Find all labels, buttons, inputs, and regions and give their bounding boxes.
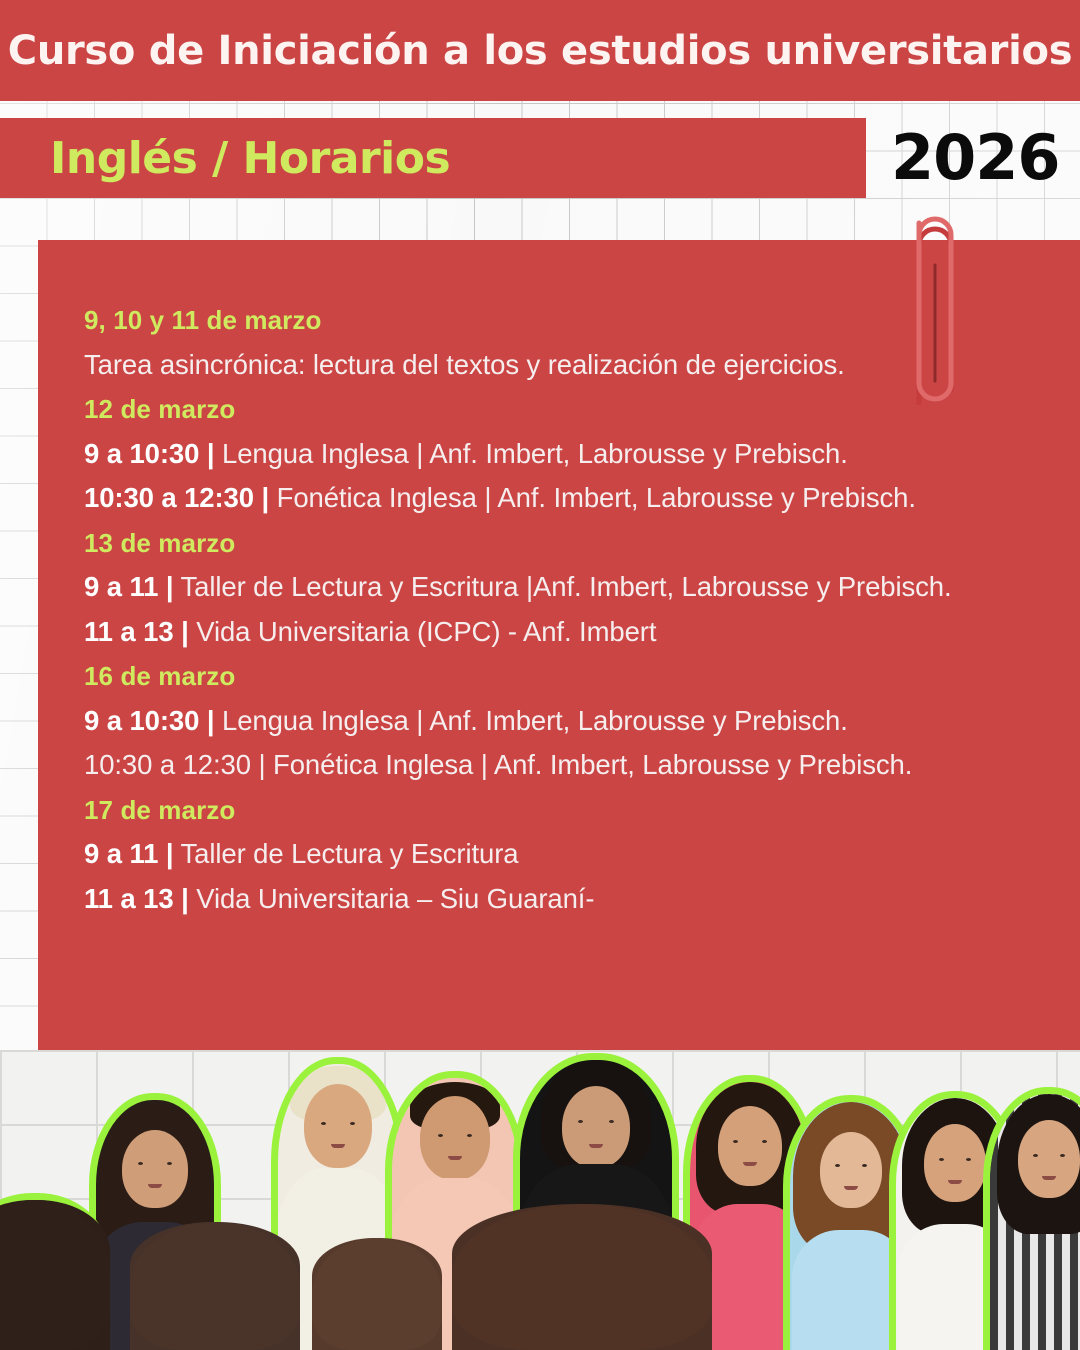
- course-title-banner: Curso de Iniciación a los estudios unive…: [0, 0, 1080, 101]
- schedule-entry: 9 a 11 | Taller de Lectura y Escritura: [84, 832, 1038, 877]
- student-photo: [0, 1200, 110, 1350]
- schedule-entry: 11 a 13 | Vida Universitaria – Siu Guara…: [84, 877, 1038, 922]
- schedule-entry: 10:30 a 12:30 | Fonética Inglesa | Anf. …: [84, 476, 1038, 521]
- subtitle-banner: Inglés / Horarios: [0, 118, 866, 198]
- foreground-students-row: [0, 1190, 1080, 1350]
- subtitle-label: Inglés / Horarios: [0, 133, 450, 184]
- schedule-entry: 10:30 a 12:30 | Fonética Inglesa | Anf. …: [84, 743, 1038, 788]
- schedule-entry: 9 a 11 | Taller de Lectura y Escritura |…: [84, 565, 1014, 610]
- schedule-card: 9, 10 y 11 de marzo Tarea asincrónica: l…: [38, 240, 1080, 1092]
- student-photo-collage: [0, 1050, 1080, 1350]
- student-photo: [130, 1222, 300, 1350]
- schedule-entry: 9 a 10:30 | Lengua Inglesa | Anf. Imbert…: [84, 699, 1038, 744]
- schedule-date-heading: 12 de marzo: [84, 387, 1038, 432]
- schedule-date-heading: 9, 10 y 11 de marzo: [84, 298, 1038, 343]
- schedule-entry: 9 a 10:30 | Lengua Inglesa | Anf. Imbert…: [84, 432, 1038, 477]
- schedule-date-heading: 17 de marzo: [84, 788, 1038, 833]
- schedule-list: 9, 10 y 11 de marzo Tarea asincrónica: l…: [38, 240, 1038, 921]
- schedule-entry: 11 a 13 | Vida Universitaria (ICPC) - An…: [84, 610, 1038, 655]
- student-photo: [312, 1238, 442, 1350]
- year-label: 2026: [891, 122, 1060, 194]
- page-title: Curso de Iniciación a los estudios unive…: [8, 28, 1072, 74]
- student-photo: [452, 1204, 712, 1350]
- schedule-date-heading: 13 de marzo: [84, 521, 1038, 566]
- schedule-entry: Tarea asincrónica: lectura del textos y …: [84, 343, 1038, 388]
- schedule-date-heading: 16 de marzo: [84, 654, 1038, 699]
